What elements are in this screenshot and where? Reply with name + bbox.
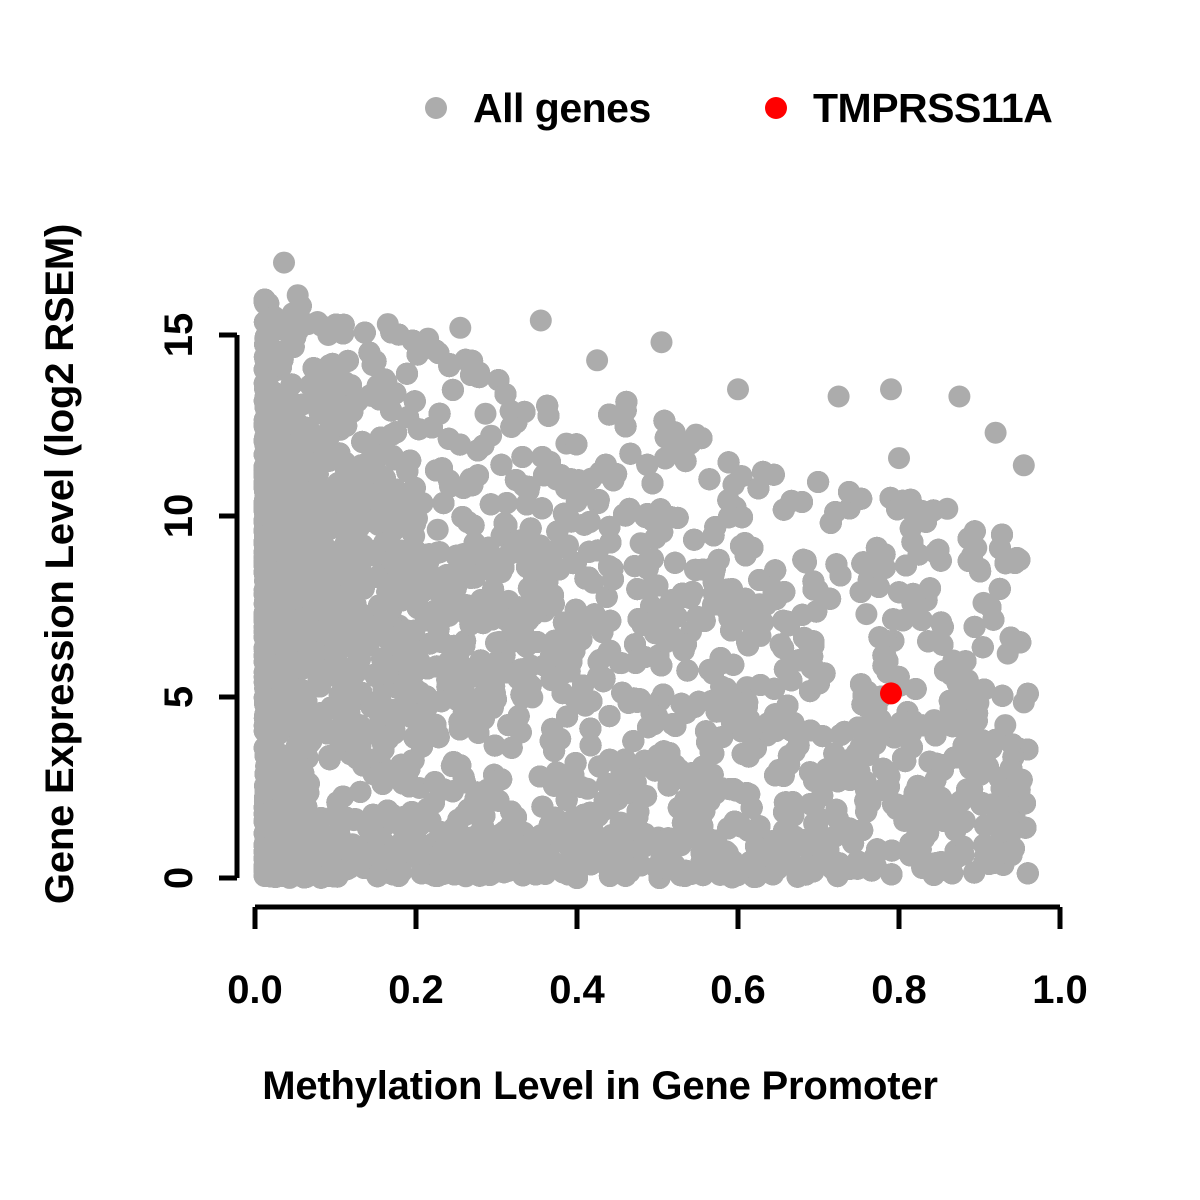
- y-axis-title-wrapper: Gene Expression Level (log2 RSEM): [38, 144, 86, 984]
- y-tick-label: 0: [157, 867, 201, 889]
- y-tick-label: 10: [157, 494, 201, 539]
- chart-page: All genes TMPRSS11A 0.00.20.40.60.81.005…: [0, 0, 1200, 1200]
- x-tick-label: 0.2: [388, 968, 444, 1012]
- x-tick-label: 0.6: [710, 968, 766, 1012]
- y-axis-title: Gene Expression Level (log2 RSEM): [38, 144, 83, 984]
- y-tick-label: 15: [157, 313, 201, 358]
- x-tick-label: 0.8: [871, 968, 927, 1012]
- x-tick-label: 0.4: [549, 968, 605, 1012]
- x-tick-label: 0.0: [227, 968, 283, 1012]
- x-axis-title: Methylation Level in Gene Promoter: [0, 1064, 1200, 1109]
- x-tick-label: 1.0: [1032, 968, 1088, 1012]
- highlight-point-tmprss11a: [880, 682, 902, 704]
- highlight-point-layer: [880, 682, 902, 704]
- y-tick-label: 5: [157, 686, 201, 708]
- scatter-plot: 0.00.20.40.60.81.0051015: [0, 0, 1200, 1200]
- data-points-layer: [254, 252, 1039, 889]
